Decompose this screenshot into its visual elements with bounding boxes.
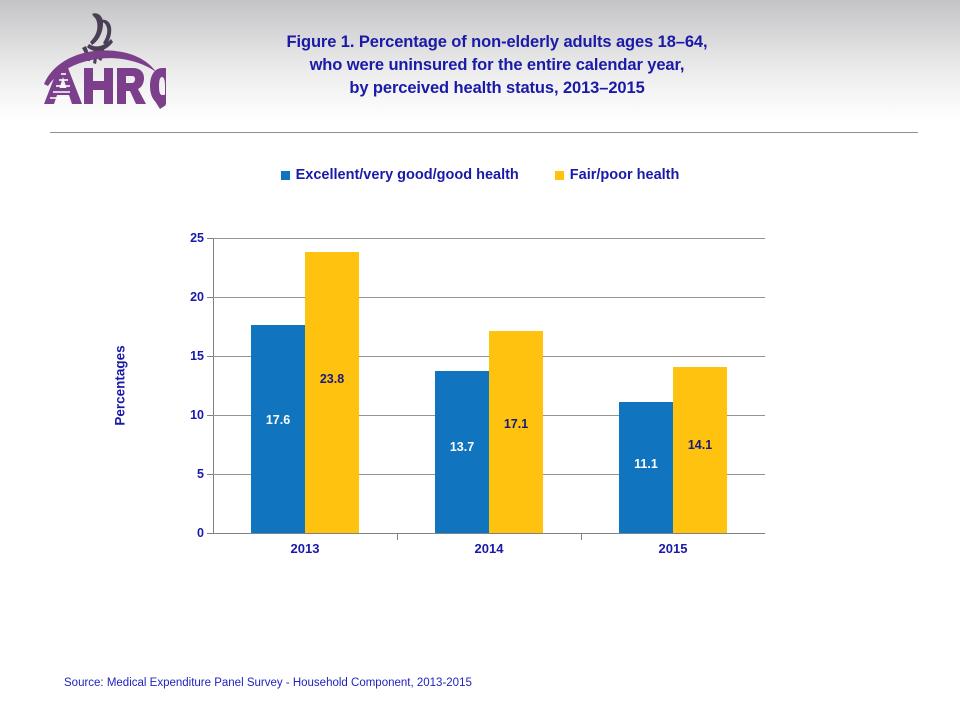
- bar-2015-series-2[interactable]: 14.1: [673, 367, 727, 533]
- y-tick-25: [207, 238, 213, 239]
- gridline-20: [213, 297, 765, 298]
- x-axis-label-2015: 2015: [581, 541, 765, 556]
- y-tick-label-15: 15: [190, 349, 204, 363]
- plot-area: 0510152025 17.623.813.717.111.114.1 2013…: [213, 238, 765, 533]
- bar-2013-series-2[interactable]: 23.8: [305, 252, 359, 533]
- y-tick-20: [207, 297, 213, 298]
- bar-value-label-2015-series-1: 11.1: [619, 458, 673, 471]
- bar-value-label-2015-series-2: 14.1: [673, 439, 727, 452]
- x-axis-label-2013: 2013: [213, 541, 397, 556]
- x-axis-separator-1: [397, 533, 398, 540]
- y-tick-label-25: 25: [190, 231, 204, 245]
- y-tick-label-5: 5: [197, 467, 204, 481]
- gridline-25: [213, 238, 765, 239]
- bar-value-label-2013-series-1: 17.6: [251, 414, 305, 427]
- bar-value-label-2013-series-2: 23.8: [305, 373, 359, 386]
- y-tick-0: [207, 533, 213, 534]
- y-axis-title: Percentages: [108, 330, 132, 440]
- bar-2015-series-1[interactable]: 11.1: [619, 402, 673, 533]
- source-note: Source: Medical Expenditure Panel Survey…: [64, 677, 472, 689]
- y-axis-title-text: Percentages: [113, 345, 128, 425]
- bar-2014-series-1[interactable]: 13.7: [435, 371, 489, 533]
- y-axis-line: [213, 238, 214, 533]
- y-tick-label-20: 20: [190, 290, 204, 304]
- chart-area: Percentages 0510152025 17.623.813.717.11…: [0, 0, 960, 720]
- bar-2014-series-2[interactable]: 17.1: [489, 331, 543, 533]
- y-tick-label-10: 10: [190, 408, 204, 422]
- x-axis-separator-2: [581, 533, 582, 540]
- y-tick-label-0: 0: [197, 526, 204, 540]
- bar-value-label-2014-series-1: 13.7: [435, 441, 489, 454]
- bar-value-label-2014-series-2: 17.1: [489, 418, 543, 431]
- y-tick-10: [207, 415, 213, 416]
- bar-2013-series-1[interactable]: 17.6: [251, 325, 305, 533]
- x-axis-label-2014: 2014: [397, 541, 581, 556]
- y-tick-5: [207, 474, 213, 475]
- y-tick-15: [207, 356, 213, 357]
- x-axis-line: [213, 533, 765, 534]
